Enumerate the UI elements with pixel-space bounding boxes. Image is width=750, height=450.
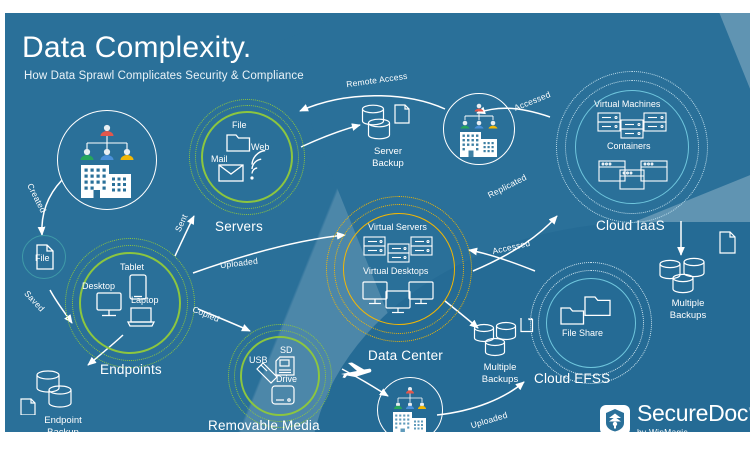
node-cloud-efss[interactable]: File Share [530, 262, 652, 384]
node-cloud-iaas[interactable]: Virtual Machines [556, 71, 708, 223]
org-chart-building-icon [443, 93, 515, 165]
page-subtitle: How Data Sprawl Complicates Security & C… [24, 70, 304, 82]
endpoint-backup-label-line2: Backup [33, 427, 93, 432]
arrow-uploaded-efss [437, 382, 524, 415]
wifi-signal-icon [250, 151, 265, 180]
node-label-cloud-efss: Cloud EFSS [534, 371, 610, 386]
server-rack-icon [364, 237, 432, 262]
folders-icon [561, 297, 610, 324]
node-label-removable-media: Removable Media [208, 418, 320, 432]
laptop-icon [128, 308, 154, 326]
endpoints-item-label-desktop: Desktop [82, 281, 115, 291]
usb-stick-icon [257, 363, 277, 383]
page-title: Data Complexity. [22, 31, 251, 64]
org-chart-building-icon [57, 110, 157, 210]
cloud-iaas-item-label-containers: Containers [607, 141, 651, 151]
arrow-uploaded-dc [193, 235, 345, 273]
node-servers[interactable]: File Mail Web [189, 99, 305, 215]
node-data-center[interactable]: Virtual Servers [326, 196, 472, 342]
server-backup-label-line2: Backup [357, 158, 419, 170]
node-file[interactable]: File [22, 235, 66, 279]
server-backup-label-line1: Server [357, 146, 419, 158]
securedoc-name-text: SecureDoc [637, 400, 748, 426]
desktop-monitor-icon [363, 282, 433, 313]
server-rack-icon [598, 113, 666, 138]
database-stack-icon [15, 363, 93, 415]
envelope-icon [219, 165, 243, 181]
node-label-endpoints: Endpoints [100, 362, 162, 377]
node-organization-top[interactable] [443, 93, 515, 165]
infographic-canvas: Data Complexity. How Data Sprawl Complic… [0, 0, 750, 450]
data-center-item-label-vdesktops: Virtual Desktops [363, 266, 428, 276]
data-center-backups-label-line2: Backups [461, 374, 539, 386]
data-center-backups-label-line1: Multiple [461, 362, 539, 374]
node-label-servers: Servers [215, 219, 263, 234]
removable-media-item-label-usb: USB [249, 355, 268, 365]
arrow-to-server-backup [301, 125, 360, 147]
external-drive-icon [272, 386, 294, 404]
database-stack-icon [357, 98, 433, 150]
securedoc-name: SecureDoc™ [637, 402, 750, 425]
node-endpoints[interactable]: Tablet Desktop Laptop [65, 238, 195, 368]
securedoc-shield-chevron-icon [600, 405, 630, 433]
cloud-iaas-backups-label-line2: Backups [648, 310, 728, 322]
servers-item-label-web: Web [251, 142, 269, 152]
node-organization-left[interactable] [57, 110, 157, 210]
node-label-cloud-iaas: Cloud IaaS [596, 218, 665, 233]
document-icon [715, 228, 745, 258]
node-endpoint-backup[interactable]: Endpoint Backup [15, 363, 93, 429]
node-server-backup[interactable]: Server Backup [357, 98, 433, 164]
removable-media-item-label-drive: Drive [276, 374, 297, 384]
node-organization-bottom[interactable] [377, 377, 443, 432]
infographic-board: Data Complexity. How Data Sprawl Complic… [5, 13, 750, 432]
endpoint-backup-label-line1: Endpoint [33, 415, 93, 427]
airplane-icon [339, 360, 373, 382]
file-icon-label: File [35, 253, 50, 263]
securedoc-logo[interactable]: SecureDoc™ by WinMagic [600, 402, 750, 432]
desktop-monitor-icon [97, 293, 121, 316]
node-removable-media[interactable]: SD USB Drive [228, 324, 332, 428]
cloud-efss-item-label-file-share: File Share [562, 328, 603, 338]
cloud-iaas-backups-label-line1: Multiple [648, 298, 728, 310]
node-cloud-iaas-backups[interactable]: Multiple Backups [650, 253, 740, 321]
folder-icon [227, 135, 250, 151]
node-label-data-center: Data Center [368, 348, 443, 363]
endpoints-item-label-laptop: Laptop [131, 295, 159, 305]
servers-item-label-mail: Mail [211, 154, 228, 164]
org-chart-building-icon [377, 377, 443, 432]
sd-card-icon [276, 357, 294, 375]
securedoc-tagline: by WinMagic [637, 427, 750, 432]
securedoc-wordmark: SecureDoc™ by WinMagic [637, 402, 750, 432]
container-window-icon [599, 161, 667, 189]
